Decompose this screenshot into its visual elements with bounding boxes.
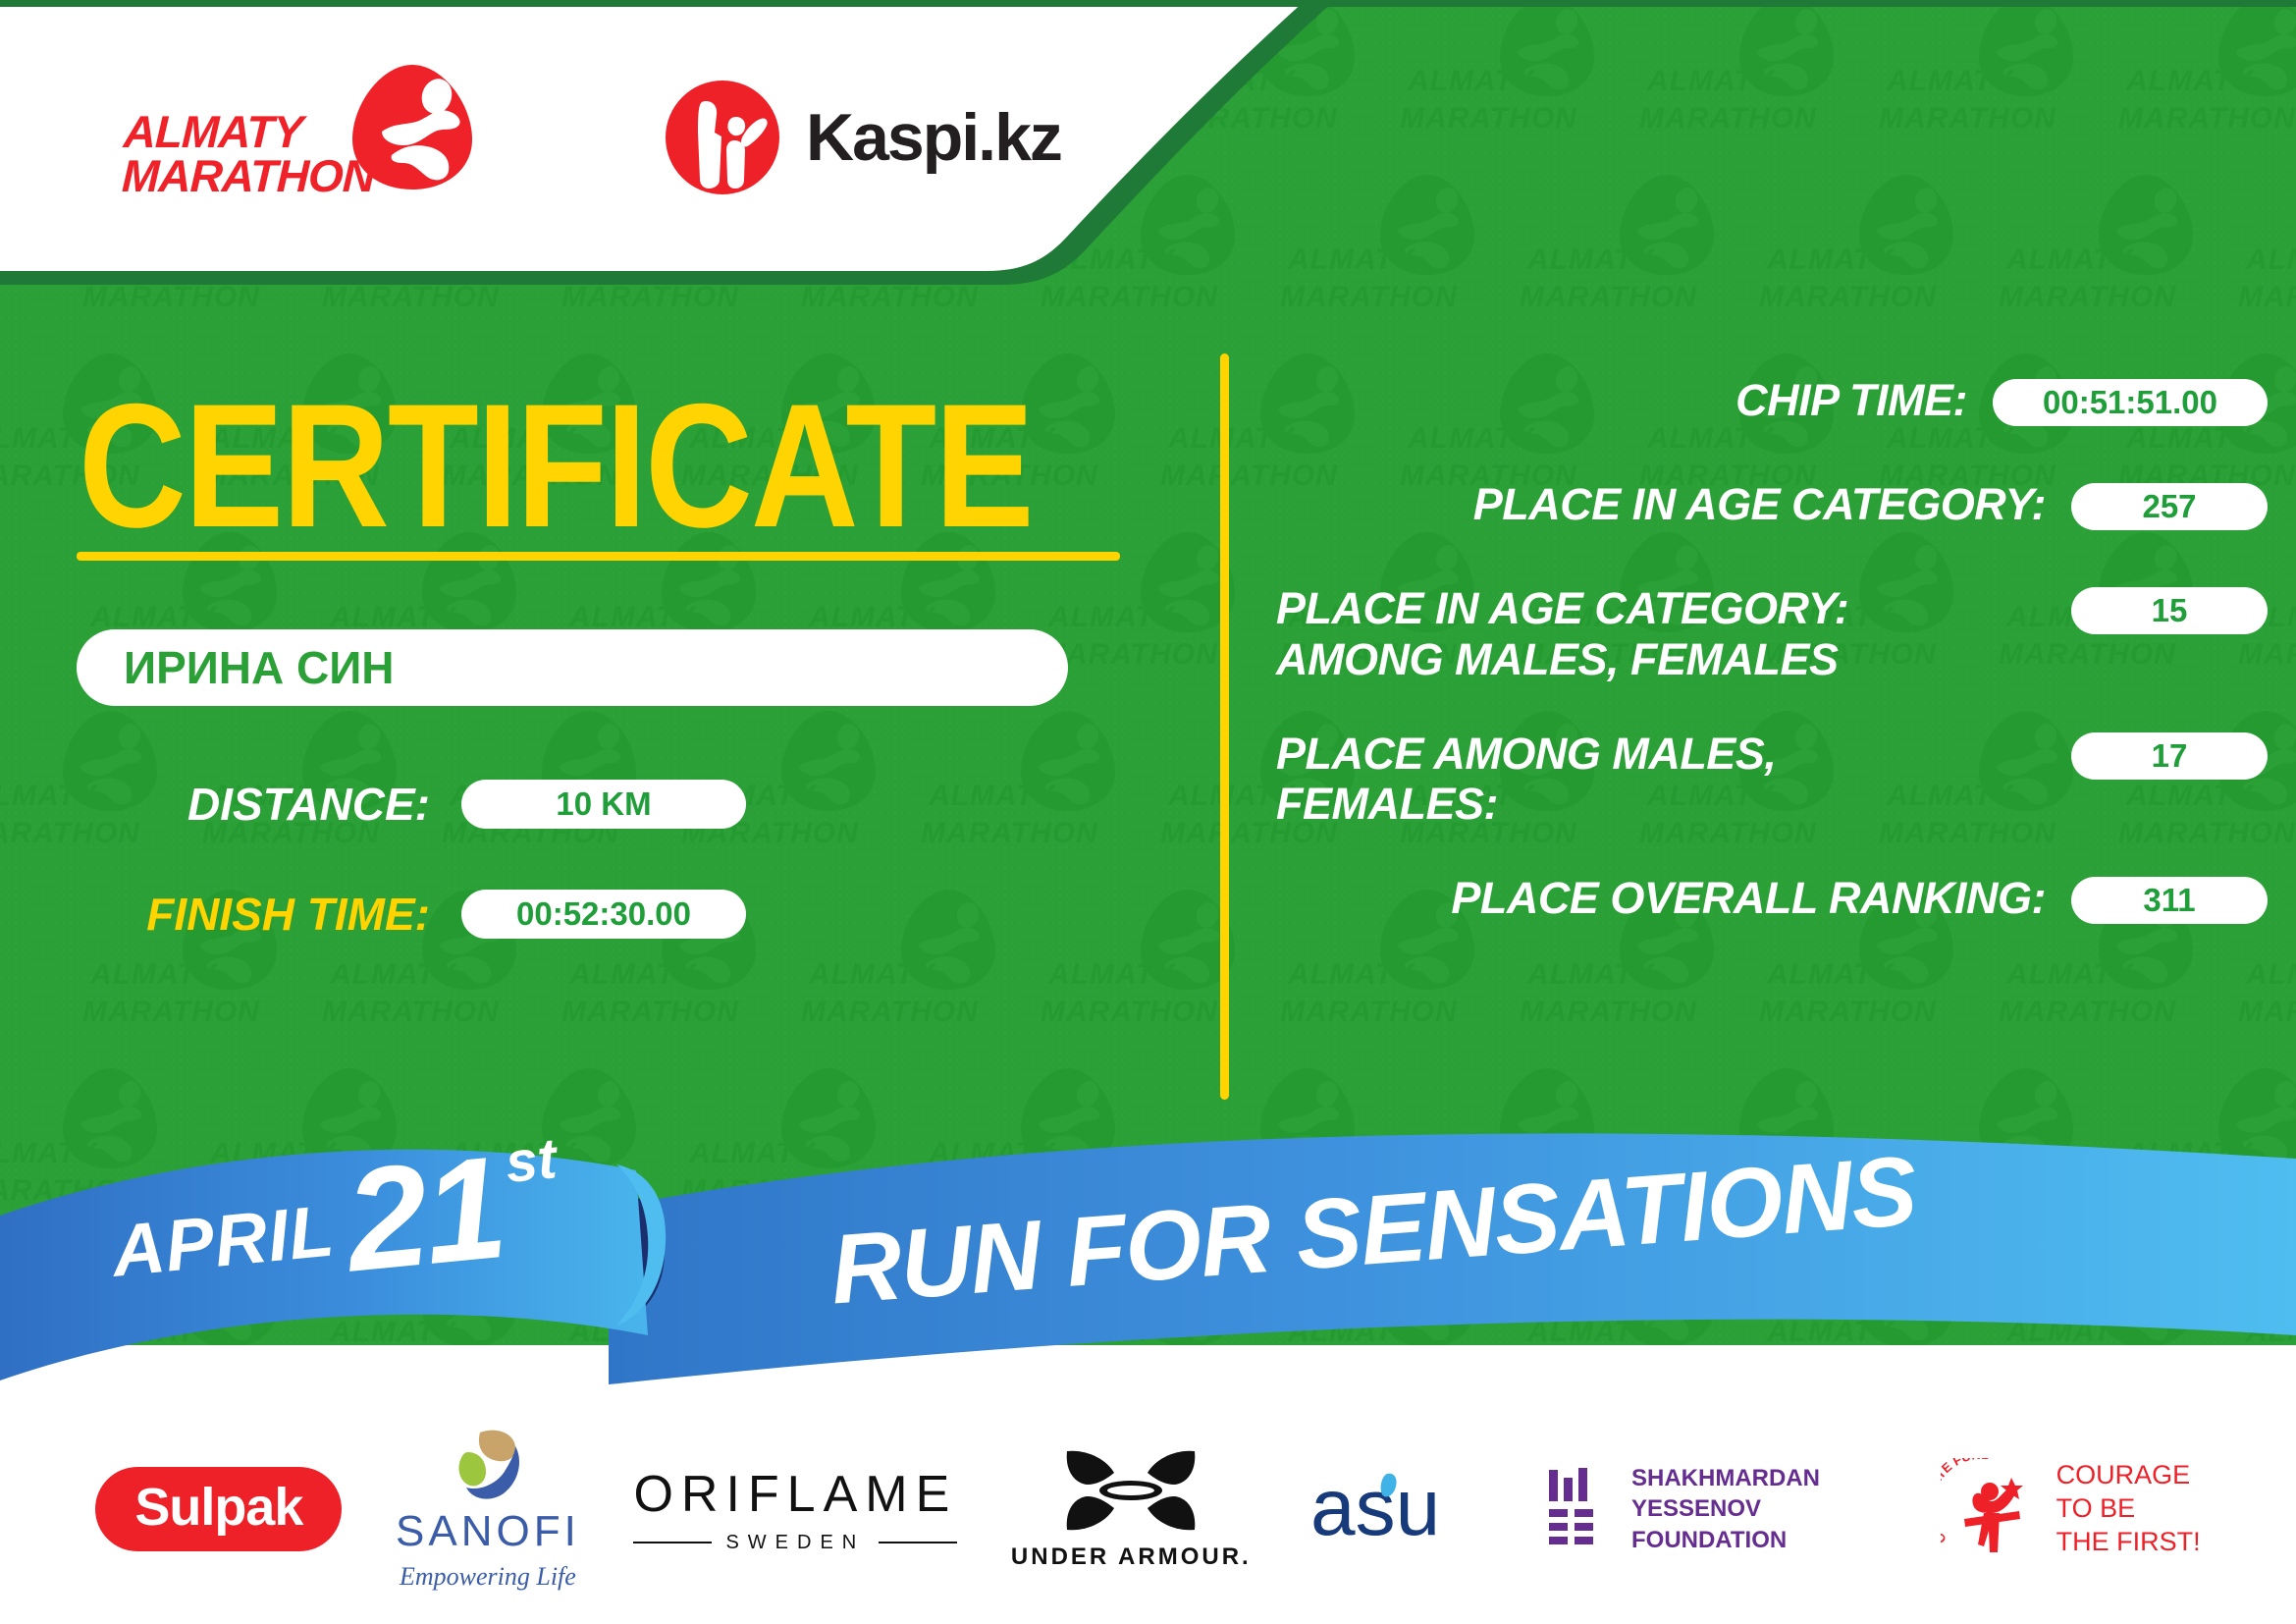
header-logos: ALMATY MARATHON Kaspi.kz — [0, 0, 1178, 275]
certificate-detail-row: FINISH TIME:00:52:30.00 — [77, 887, 1117, 942]
svg-text:MARATHON: MARATHON — [2238, 281, 2296, 313]
sanofi-tagline: Empowering Life — [400, 1562, 576, 1592]
kaspi-wordmark: Kaspi.kz — [806, 99, 1061, 176]
svg-text:MARATHON: MARATHON — [82, 996, 260, 1028]
yessenov-mark-icon — [1545, 1468, 1610, 1550]
svg-text:ALMATY: ALMATY — [1886, 65, 2015, 97]
watermark-tile: ALMATYMARATHON — [2116, 0, 2296, 159]
svg-text:MARATHON: MARATHON — [1520, 996, 1697, 1028]
stat-row-value-pill: 311 — [2071, 877, 2268, 924]
courage-fund-wordmark: COURAGE TO BE THE FIRST! — [2056, 1459, 2201, 1558]
detail-row-value: 00:52:30.00 — [516, 895, 691, 933]
stat-row-label: PLACE IN AGE CATEGORY: AMONG MALES, FEMA… — [1276, 583, 2071, 685]
svg-text:MARATHON: MARATHON — [1041, 996, 1218, 1028]
certificate-detail-rows: DISTANCE:10 KMFINISH TIME:00:52:30.00 — [77, 777, 1117, 942]
under-armour-mark-icon — [1057, 1447, 1204, 1534]
svg-text:MARATHON: MARATHON — [82, 281, 260, 313]
sponsor-oriflame: ORIFLAME SWEDEN — [633, 1465, 957, 1554]
asu-wordmark-icon: asu — [1305, 1464, 1491, 1554]
svg-text:MARATHON: MARATHON — [1639, 102, 1817, 135]
stat-row-value: 257 — [2142, 488, 2196, 525]
watermark-tile: ALMATYMARATHON — [1637, 0, 1877, 159]
svg-text:ALMATY: ALMATY — [2005, 244, 2135, 276]
stat-row-value: 17 — [2152, 737, 2188, 775]
yessenov-line-1: SHAKHMARDAN YESSENOV — [1631, 1463, 1887, 1524]
sponsor-under-armour: UNDER ARMOUR. — [1011, 1447, 1252, 1571]
svg-text:MARATHON: MARATHON — [801, 281, 979, 313]
svg-text:MARATHON: MARATHON — [1759, 996, 1937, 1028]
stat-row-label: CHIP TIME: — [1276, 375, 1993, 426]
svg-text:MARATHON: MARATHON — [561, 281, 739, 313]
stat-row: PLACE IN AGE CATEGORY:257 — [1276, 479, 2268, 540]
page-title: CERTIFICATE — [77, 378, 1117, 554]
svg-text:ALMATY: ALMATY — [1526, 244, 1656, 276]
svg-text:MARATHON: MARATHON — [322, 281, 500, 313]
almaty-marathon-logo: ALMATY MARATHON — [123, 59, 476, 216]
svg-text:ALMATY: ALMATY — [2245, 244, 2296, 276]
svg-text:ALMATY: ALMATY — [1766, 244, 1896, 276]
event-day: 21 — [342, 1146, 508, 1283]
svg-text:MARATHON: MARATHON — [2238, 996, 2296, 1028]
detail-row-value-pill: 10 KM — [461, 780, 746, 829]
sponsor-asu: asu — [1305, 1464, 1491, 1554]
brand-line-1: ALMATY — [123, 110, 400, 154]
sanofi-mark-icon — [447, 1427, 529, 1505]
top-green-strip — [0, 0, 2296, 7]
sanofi-wordmark: SANOFI — [396, 1507, 580, 1556]
sponsors-bar: Sulpak SANOFI Empowering Life ORIFLAME S… — [0, 1394, 2296, 1624]
oriflame-rule-right — [879, 1542, 957, 1543]
yessenov-wordmark: SHAKHMARDAN YESSENOV FOUNDATION — [1631, 1463, 1887, 1555]
stat-row: PLACE IN AGE CATEGORY: AMONG MALES, FEMA… — [1276, 583, 2268, 685]
courage-line-3: THE FIRST! — [2056, 1526, 2201, 1559]
oriflame-rule-left — [633, 1542, 712, 1543]
svg-text:MARATHON: MARATHON — [1999, 996, 2176, 1028]
stat-row-label: PLACE IN AGE CATEGORY: — [1276, 479, 2071, 530]
stat-row-label: PLACE AMONG MALES, FEMALES: — [1276, 729, 2071, 831]
stat-row-value: 00:51:51.00 — [2043, 384, 2217, 421]
svg-text:MARATHON: MARATHON — [1759, 281, 1937, 313]
courage-line-1: COURAGE — [2056, 1459, 2201, 1492]
stat-row: PLACE OVERALL RANKING:311 — [1276, 873, 2268, 934]
courage-line-2: TO BE — [2056, 1492, 2201, 1526]
stat-row-value-pill: 00:51:51.00 — [1993, 379, 2268, 426]
svg-text:asu: asu — [1310, 1464, 1440, 1552]
results-stats-column: CHIP TIME:00:51:51.00PLACE IN AGE CATEGO… — [1276, 375, 2268, 977]
watermark-tile: ALMATYMARATHON — [1518, 159, 1757, 338]
svg-text:MARATHON: MARATHON — [1879, 102, 2056, 135]
watermark-tile: ALMATYMARATHON — [2236, 159, 2296, 338]
svg-text:MARATHON: MARATHON — [1041, 281, 1218, 313]
svg-text:MARATHON: MARATHON — [2118, 102, 2296, 135]
watermark-tile: ALMATYMARATHON — [1877, 0, 2116, 159]
participant-name: ИРИНА СИН — [124, 641, 395, 694]
svg-text:MARATHON: MARATHON — [1999, 281, 2176, 313]
stat-row-value-pill: 17 — [2071, 732, 2268, 780]
almaty-marathon-wordmark: ALMATY MARATHON — [121, 110, 399, 197]
certificate-left-column: CERTIFICATE ИРИНА СИН DISTANCE:10 KMFINI… — [77, 378, 1117, 997]
stat-row-value-pill: 15 — [2071, 587, 2268, 634]
svg-text:ALMATY: ALMATY — [1646, 65, 1776, 97]
stat-row-value: 311 — [2143, 882, 2195, 919]
svg-text:MARATHON: MARATHON — [801, 996, 979, 1028]
brand-line-2: MARATHON — [121, 154, 398, 198]
detail-row-label: DISTANCE: — [77, 778, 430, 831]
courage-fund-mark-icon: CORPORATE FUND — [1941, 1458, 2043, 1560]
certificate-detail-row: DISTANCE:10 KM — [77, 777, 1117, 832]
svg-text:MARATHON: MARATHON — [561, 996, 739, 1028]
kaspi-logo: Kaspi.kz — [663, 78, 1061, 197]
under-armour-wordmark: UNDER ARMOUR. — [1011, 1543, 1252, 1571]
stat-row-value: 15 — [2152, 592, 2188, 629]
detail-row-value-pill: 00:52:30.00 — [461, 890, 746, 939]
stat-row-label: PLACE OVERALL RANKING: — [1276, 873, 2071, 924]
kaspi-mark-icon — [663, 78, 782, 197]
stat-row: CHIP TIME:00:51:51.00 — [1276, 375, 2268, 436]
yessenov-line-2: FOUNDATION — [1631, 1525, 1887, 1555]
sponsor-sanofi: SANOFI Empowering Life — [396, 1427, 580, 1592]
stat-row: PLACE AMONG MALES, FEMALES:17 — [1276, 729, 2268, 831]
detail-row-value: 10 KM — [556, 785, 651, 823]
svg-text:MARATHON: MARATHON — [322, 996, 500, 1028]
stat-row-value-pill: 257 — [2071, 483, 2268, 530]
sponsor-courage-fund: CORPORATE FUND COURAGE TO BE THE FIRST! — [1941, 1458, 2201, 1560]
watermark-tile: ALMATYMARATHON — [1997, 159, 2236, 338]
detail-row-label: FINISH TIME: — [77, 888, 430, 941]
svg-text:MARATHON: MARATHON — [1520, 281, 1697, 313]
oriflame-sub: SWEDEN — [633, 1532, 957, 1554]
svg-text:MARATHON: MARATHON — [1280, 281, 1458, 313]
oriflame-wordmark: ORIFLAME — [633, 1465, 957, 1524]
svg-text:MARATHON: MARATHON — [1280, 996, 1458, 1028]
vertical-divider — [1220, 353, 1229, 1100]
sponsor-yessenov-foundation: SHAKHMARDAN YESSENOV FOUNDATION — [1545, 1463, 1887, 1555]
watermark-tile: ALMATYMARATHON — [1757, 159, 1997, 338]
sulpak-wordmark: Sulpak — [95, 1467, 342, 1551]
participant-name-field: ИРИНА СИН — [77, 629, 1068, 706]
sponsor-sulpak: Sulpak — [95, 1467, 342, 1551]
oriflame-country: SWEDEN — [725, 1532, 865, 1554]
svg-text:ALMATY: ALMATY — [2125, 65, 2255, 97]
